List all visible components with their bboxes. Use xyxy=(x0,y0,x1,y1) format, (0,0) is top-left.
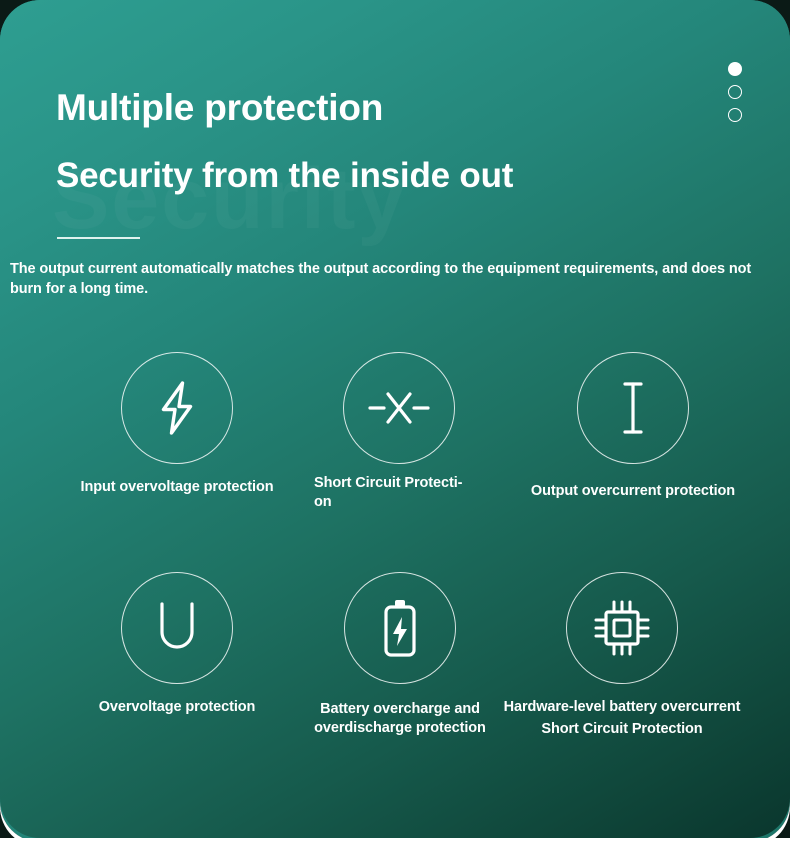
feature-icon-circle xyxy=(344,572,456,684)
current-i-icon xyxy=(616,381,650,435)
feature-overvoltage-protection: Overvoltage protection xyxy=(52,572,302,717)
page-title-primary: Multiple protection xyxy=(56,88,383,129)
pagination-dot-3[interactable] xyxy=(728,108,742,122)
feature-label-line-2: overdischarge protection xyxy=(275,719,525,738)
feature-label-line-2: Short Circuit Protection xyxy=(497,718,747,740)
u-voltage-icon xyxy=(154,600,200,656)
features-row-1: Input overvoltage protection Short Circ xyxy=(0,340,790,562)
feature-input-overvoltage-protection: Input overvoltage protection xyxy=(52,352,302,497)
feature-label: Output overcurrent protection xyxy=(508,482,758,501)
feature-label-line-1: Input overvoltage protection xyxy=(81,479,274,495)
pagination-dots[interactable] xyxy=(728,62,742,122)
feature-label-line-1: Output overcurrent protection xyxy=(531,483,735,499)
battery-bolt-icon xyxy=(377,597,423,659)
feature-icon-circle xyxy=(577,352,689,464)
feature-label-line-1: Short Circuit Protecti- xyxy=(314,475,462,491)
page-subtitle: The output current automatically matches… xyxy=(10,260,785,299)
feature-icon-circle xyxy=(566,572,678,684)
feature-label-line-1: Hardware-level battery overcurrent xyxy=(504,699,741,715)
feature-label: Hardware-level battery overcurrent Short… xyxy=(497,696,747,741)
feature-output-overcurrent-protection: Output overcurrent protection xyxy=(508,352,758,501)
feature-label-line-2: on xyxy=(314,493,524,512)
lightning-bolt-icon xyxy=(151,379,203,437)
short-circuit-icon xyxy=(368,388,430,428)
feature-icon-circle xyxy=(343,352,455,464)
feature-label: Battery overcharge and overdischarge pro… xyxy=(275,700,525,738)
feature-icon-circle xyxy=(121,352,233,464)
page-title-secondary: Security from the inside out xyxy=(56,157,513,196)
pagination-dot-2[interactable] xyxy=(728,85,742,99)
feature-short-circuit-protection: Short Circuit Protecti- on xyxy=(274,352,524,512)
feature-label-line-1: Battery overcharge and xyxy=(320,701,480,717)
feature-label: Overvoltage protection xyxy=(52,698,302,717)
feature-label: Short Circuit Protecti- on xyxy=(274,474,524,512)
promo-card-stage: Security Multiple protection Security fr… xyxy=(0,0,790,849)
feature-label: Input overvoltage protection xyxy=(52,478,302,497)
feature-hardware-level-overcurrent-protection: Hardware-level battery overcurrent Short… xyxy=(497,572,747,741)
features-grid: Input overvoltage protection Short Circ xyxy=(0,340,790,784)
feature-label-line-1: Overvoltage protection xyxy=(99,699,256,715)
pagination-dot-1[interactable] xyxy=(728,62,742,76)
promo-panel: Security Multiple protection Security fr… xyxy=(0,0,790,838)
title-divider xyxy=(57,237,140,239)
features-row-2: Overvoltage protection Battery overcharg… xyxy=(0,562,790,784)
feature-battery-overcharge-protection: Battery overcharge and overdischarge pro… xyxy=(275,572,525,738)
chip-icon xyxy=(592,598,652,658)
card-bottom-strip xyxy=(0,838,790,849)
feature-icon-circle xyxy=(121,572,233,684)
